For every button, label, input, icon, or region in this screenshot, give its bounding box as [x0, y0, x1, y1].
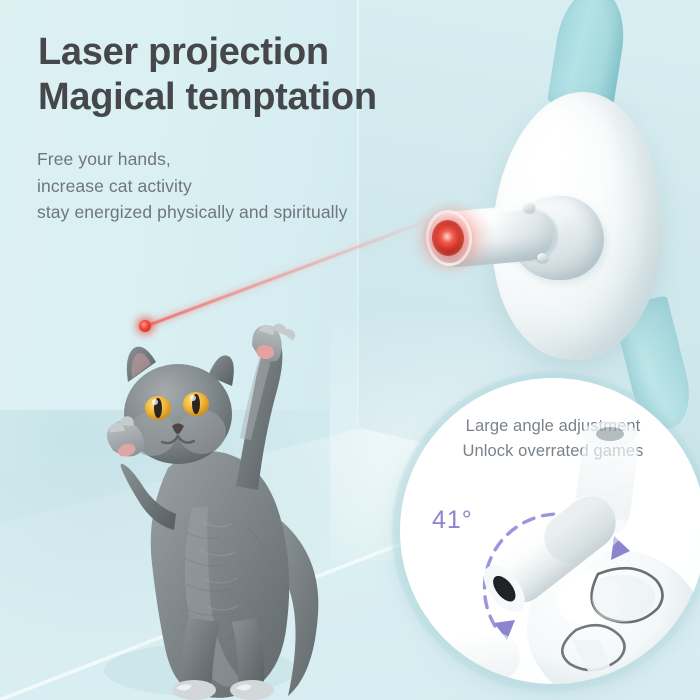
subheading-line-2: increase cat activity — [37, 173, 348, 200]
barrel-ghost-lower — [410, 630, 522, 684]
product-marketing-banner: Laser projection Magical temptation Free… — [0, 0, 700, 700]
subheading-line-3: stay energized physically and spirituall… — [37, 199, 348, 226]
barrel-screw-lower — [537, 253, 548, 262]
headline: Laser projection Magical temptation — [38, 30, 377, 120]
subheading-block: Free your hands, increase cat activity s… — [37, 146, 348, 226]
inset-diagram — [400, 378, 700, 684]
subheading-line-1: Free your hands, — [37, 146, 348, 173]
barrel-screw-upper — [524, 203, 535, 212]
cat-illustration — [60, 318, 350, 700]
inset-detail-panel: Large angle adjustment Unlock overrated … — [400, 378, 700, 684]
